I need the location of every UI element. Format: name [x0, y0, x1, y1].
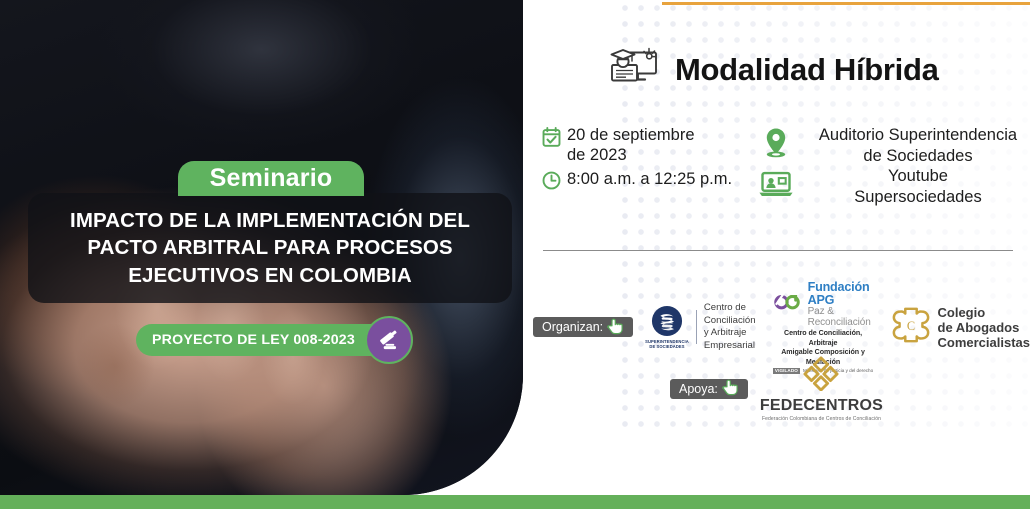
page-title: IMPACTO DE LA IMPLEMENTACIÓN DEL PACTO A… — [42, 207, 498, 288]
organizan-label: Organizan: — [542, 320, 603, 334]
venue-icons — [753, 125, 799, 203]
cca-line-2: Conciliación — [704, 315, 756, 328]
svg-text:C: C — [906, 319, 914, 333]
apoya-row: Apoya: — [523, 355, 1030, 422]
cac-line-3: Comercialistas — [938, 335, 1030, 350]
apg-mark-icon — [770, 290, 804, 319]
sss-sub-2: DE SOCIEDADES — [645, 344, 689, 349]
supersociedades-mark-sub: SUPERINTENDENCIA DE SOCIEDADES — [645, 339, 689, 349]
logo-divider — [696, 310, 697, 344]
section-divider — [543, 250, 1013, 251]
clock-icon — [542, 171, 561, 195]
apoya-label: Apoya: — [679, 382, 718, 396]
supersociedades-mark: SUPERINTENDENCIA DE SOCIEDADES — [645, 305, 689, 349]
apg-title: Fundación APG — [808, 281, 877, 307]
cac-mark-icon: C — [891, 305, 931, 350]
apg-subtitle: Paz & Reconciliación — [808, 307, 877, 328]
venue-block: Auditorio Superintendencia de Sociedades… — [753, 125, 1030, 208]
date-line-1: 20 de septiembre — [567, 125, 695, 145]
apoya-chip: Apoya: — [670, 379, 748, 399]
webinar-laptop-icon — [758, 171, 794, 203]
time-line: 8:00 a.m. a 12:25 p.m. — [542, 169, 753, 195]
fedecentros-logo: FEDECENTROS Federación Colombiana de Cen… — [760, 355, 883, 422]
event-details: 20 de septiembre de 2023 8:00 a.m. a 12:… — [523, 125, 1030, 208]
venue-line-4: Supersociedades — [806, 187, 1030, 208]
date-text: 20 de septiembre de 2023 — [567, 125, 695, 165]
pointing-hand-icon — [720, 377, 740, 400]
cac-line-2: de Abogados — [938, 320, 1030, 335]
venue-line-3: Youtube — [806, 166, 1030, 187]
ley-pill: PROYECTO DE LEY 008-2023 — [136, 324, 389, 356]
datetime-block: 20 de septiembre de 2023 8:00 a.m. a 12:… — [523, 125, 753, 208]
map-pin-icon — [762, 127, 790, 163]
modality-header: Modalidad Híbrida — [603, 44, 939, 95]
date-line-2: de 2023 — [567, 145, 695, 165]
colegio-abogados-logo: C Colegio de Abogados Comercialistas — [891, 305, 1030, 351]
title-plaque: IMPACTO DE LA IMPLEMENTACIÓN DEL PACTO A… — [28, 193, 512, 303]
ley-pill-label: PROYECTO DE LEY 008-2023 — [152, 332, 355, 348]
date-line: 20 de septiembre de 2023 — [542, 125, 753, 165]
cac-line-1: Colegio — [938, 305, 1030, 320]
organizan-chip: Organizan: — [533, 317, 633, 337]
gavel-icon — [365, 316, 413, 364]
apg-desc-1: Centro de Conciliación, Arbitraje — [770, 329, 877, 348]
top-accent-rule — [662, 2, 1030, 5]
cca-line-3: y Arbitraje — [704, 327, 756, 340]
bottom-accent-bar — [0, 495, 1030, 509]
calendar-check-icon — [542, 127, 561, 153]
cca-line-1: Centro de — [704, 302, 756, 315]
hybrid-learning-icon — [603, 44, 665, 95]
info-panel: Modalidad Híbrida 20 de septiembre — [523, 0, 1030, 495]
ley-pill-group: PROYECTO DE LEY 008-2023 — [136, 324, 389, 356]
seminario-badge-label: Seminario — [210, 164, 333, 193]
supersociedades-logo: SUPERINTENDENCIA DE SOCIEDADES Centro de… — [645, 302, 755, 353]
pointing-hand-icon — [605, 316, 625, 339]
venue-group: Auditorio Superintendencia de Sociedades… — [753, 125, 1030, 208]
apg-top: Fundación APG Paz & Reconciliación — [770, 281, 877, 328]
apg-words: Fundación APG Paz & Reconciliación — [808, 281, 877, 328]
cca-text: Centro de Conciliación y Arbitraje Empre… — [704, 302, 756, 353]
event-poster: Seminario IMPACTO DE LA IMPLEMENTACIÓN D… — [0, 0, 1030, 509]
time-text: 8:00 a.m. a 12:25 p.m. — [567, 169, 732, 189]
seminario-badge: Seminario — [178, 161, 364, 196]
cac-words: Colegio de Abogados Comercialistas — [938, 305, 1030, 351]
fedecentros-name: FEDECENTROS — [760, 397, 883, 415]
modality-title: Modalidad Híbrida — [675, 52, 939, 88]
cca-line-4: Empresarial — [704, 340, 756, 353]
venue-text: Auditorio Superintendencia de Sociedades… — [806, 125, 1030, 208]
fedecentros-mark-icon — [799, 378, 843, 395]
fedecentros-subtitle: Federación Colombiana de Centros de Conc… — [760, 416, 883, 422]
venue-line-2: de Sociedades — [806, 146, 1030, 167]
venue-line-1: Auditorio Superintendencia — [806, 125, 1030, 146]
